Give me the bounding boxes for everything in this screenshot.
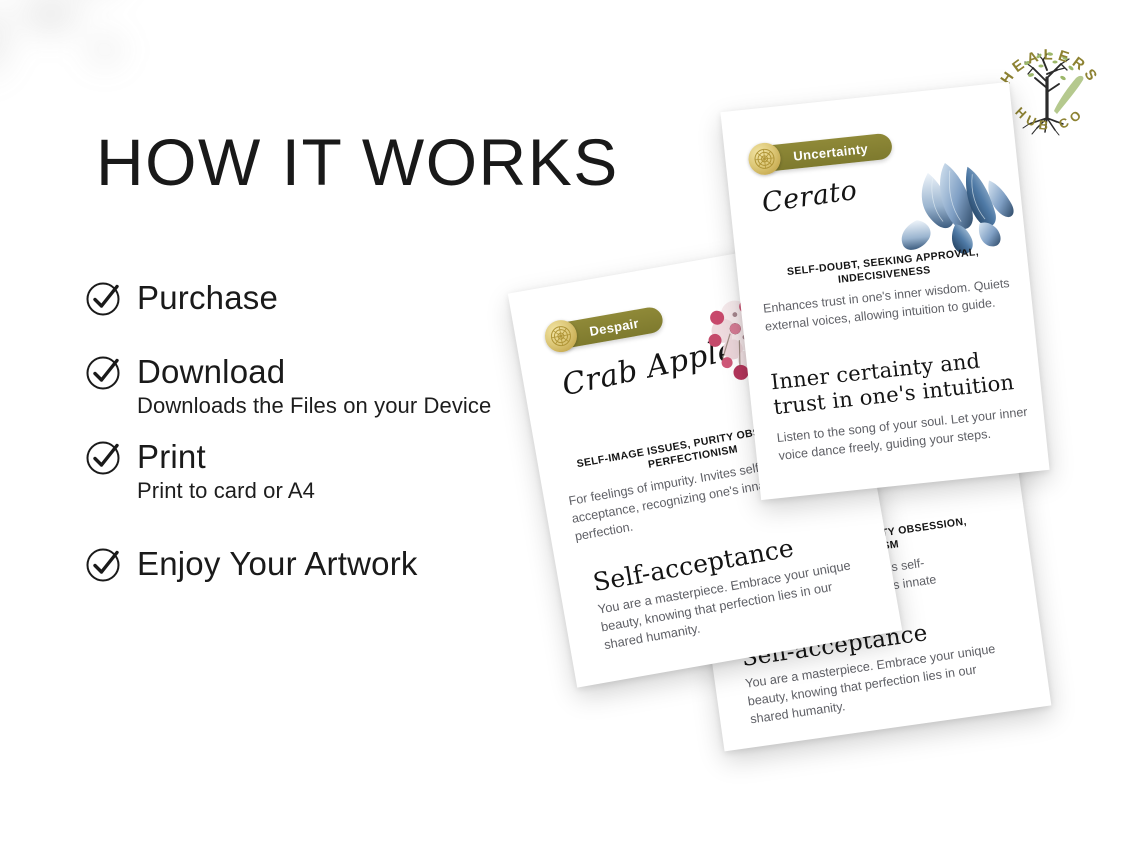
- badge-label: Despair: [588, 315, 640, 338]
- logo-top-text: HEALERS: [997, 46, 1102, 87]
- medallion-icon: [542, 318, 579, 355]
- check-circle-icon: [84, 437, 124, 477]
- step-title: Download: [137, 353, 285, 391]
- svg-text:HUB CO: HUB CO: [1012, 104, 1087, 133]
- step-title: Purchase: [137, 279, 278, 317]
- svg-text:HEALERS: HEALERS: [997, 46, 1102, 87]
- page-title: HOW IT WORKS: [96, 124, 619, 200]
- card-cerato[interactable]: Uncertainty Cerato: [720, 82, 1049, 500]
- check-circle-icon: [84, 278, 124, 318]
- step-subtitle: Print to card or A4: [137, 478, 604, 504]
- check-circle-icon: [84, 544, 124, 584]
- remedy-name: Cerato: [760, 175, 859, 219]
- list-item: Print Print to card or A4: [84, 437, 604, 504]
- logo-bottom-text: HUB CO: [1012, 104, 1087, 133]
- step-title: Enjoy Your Artwork: [137, 545, 418, 583]
- medallion-icon: [747, 141, 782, 176]
- list-item: Enjoy Your Artwork: [84, 544, 604, 584]
- step-title: Print: [137, 438, 206, 476]
- status-badge: Despair: [554, 305, 665, 349]
- check-circle-icon: [84, 352, 124, 392]
- status-badge: Uncertainty: [758, 133, 893, 173]
- slide-canvas: HEALERS HUB CO HOW IT WORKS Purchase: [0, 0, 1140, 855]
- badge-label: Uncertainty: [793, 141, 869, 164]
